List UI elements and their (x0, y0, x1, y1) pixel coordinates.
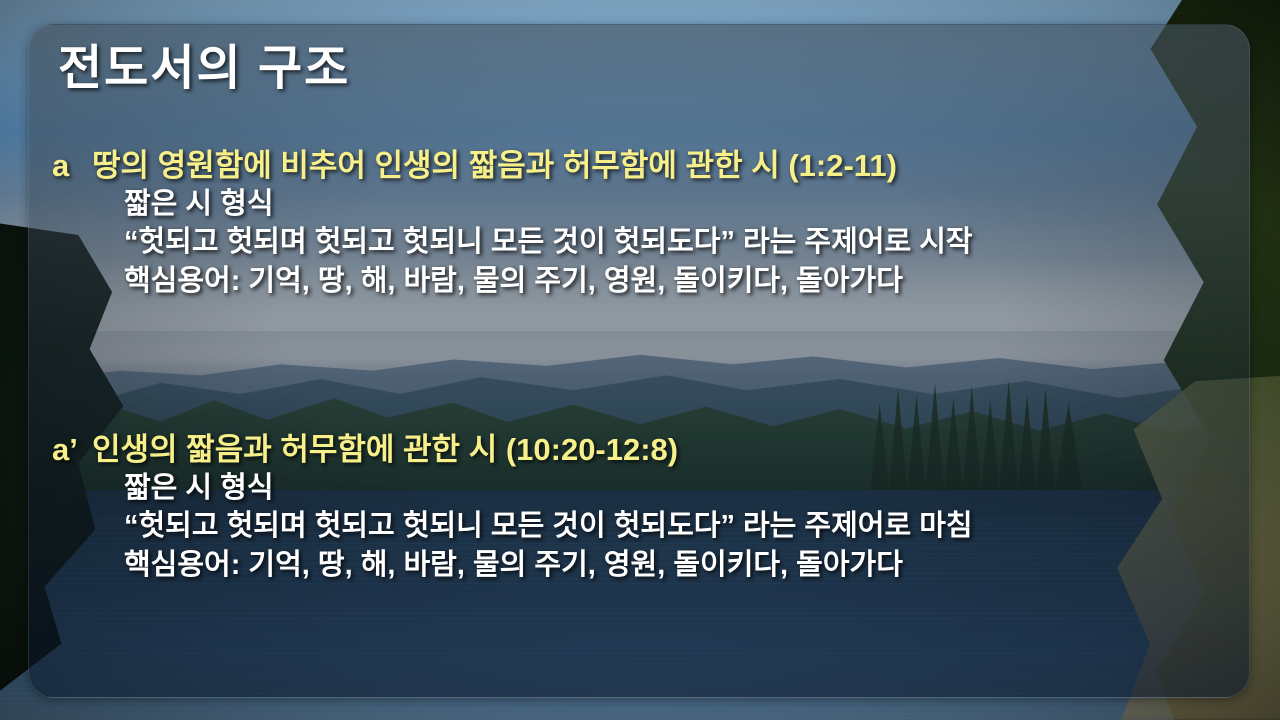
outline-detail-a-3: 핵심용어: 기억, 땅, 해, 바람, 물의 주기, 영원, 돌이키다, 돌아가… (0, 262, 1280, 301)
outline-detail-a-1: 짧은 시 형식 (0, 185, 1280, 224)
outline-marker-a-prime: a’ (52, 432, 92, 469)
outline-heading-text-a-prime: 인생의 짧음과 허무함에 관한 시 (10:20-12:8) (92, 432, 678, 467)
outline-heading-text-a: 땅의 영원함에 비추어 인생의 짧음과 허무함에 관한 시 (1:2-11) (92, 148, 897, 183)
outline-marker-a: a (52, 148, 92, 185)
content-panel (28, 24, 1250, 698)
slide-title: 전도서의 구조 (58, 28, 350, 98)
slide-canvas: 전도서의 구조 a땅의 영원함에 비추어 인생의 짧음과 허무함에 관한 시 (… (0, 0, 1280, 720)
outline-block-a: a땅의 영원함에 비추어 인생의 짧음과 허무함에 관한 시 (1:2-11) … (0, 148, 1280, 300)
outline-detail-a-prime-1: 짧은 시 형식 (0, 469, 1280, 508)
outline-detail-a-2: “헛되고 헛되며 헛되고 헛되니 모든 것이 헛되도다” 라는 주제어로 시작 (0, 223, 1280, 262)
outline-detail-a-prime-2: “헛되고 헛되며 헛되고 헛되니 모든 것이 헛되도다” 라는 주제어로 마침 (0, 507, 1280, 546)
outline-heading-a-prime: a’인생의 짧음과 허무함에 관한 시 (10:20-12:8) (0, 432, 1280, 469)
outline-detail-a-prime-3: 핵심용어: 기억, 땅, 해, 바람, 물의 주기, 영원, 돌이키다, 돌아가… (0, 546, 1280, 585)
outline-heading-a: a땅의 영원함에 비추어 인생의 짧음과 허무함에 관한 시 (1:2-11) (0, 148, 1280, 185)
outline-block-a-prime: a’인생의 짧음과 허무함에 관한 시 (10:20-12:8) 짧은 시 형식… (0, 432, 1280, 584)
